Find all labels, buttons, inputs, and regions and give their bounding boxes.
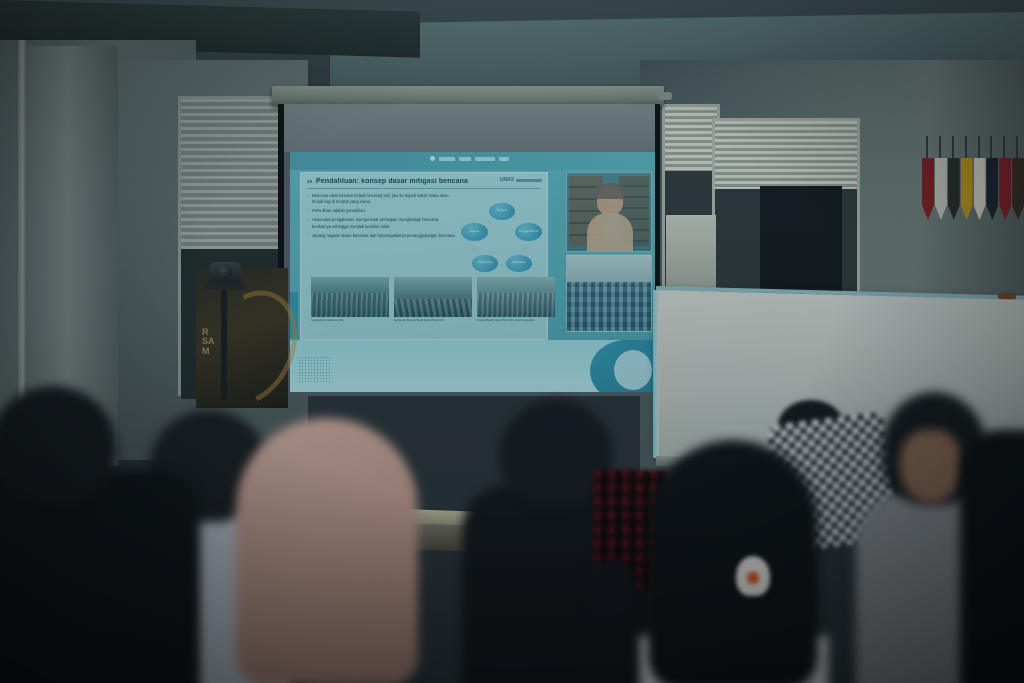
flag: [1012, 158, 1024, 220]
flag-item: [974, 136, 986, 246]
hair-clip: [736, 556, 770, 596]
audience-person-body: [960, 430, 1024, 683]
cycle-node: Rehabilitasi: [506, 255, 532, 272]
flag-item: [948, 136, 960, 246]
presentation-slide: UNAS 10 Pendahluan: konsep dasar mitigas…: [290, 152, 656, 392]
institution-logo: UNAS: [500, 177, 542, 183]
list-item: Jepang negara rawan bencana dan berpenga…: [307, 233, 457, 239]
dot-pattern-decoration: [298, 356, 332, 382]
screen-pull-knob[interactable]: [658, 92, 672, 100]
cycle-node: Bencana: [489, 203, 515, 220]
whiteboard-marker[interactable]: [998, 293, 1016, 299]
photo-caption: Gempa dan Tsunami Besar Jepang Timur 201…: [394, 319, 472, 322]
logo-dot-icon: [430, 156, 435, 161]
window-vent: [665, 107, 717, 171]
slide-header-band: [290, 152, 656, 170]
presenter-video-panel[interactable]: [566, 172, 652, 252]
audience-person-face: [900, 430, 962, 504]
disaster-photo: [394, 277, 472, 317]
audience-person-head: [0, 386, 116, 504]
arrow-up-icon: ↑: [474, 246, 476, 251]
slide-title: Pendahluan: konsep dasar mitigasi bencan…: [316, 178, 468, 185]
flag: [948, 158, 960, 220]
logo-mark-icon: [475, 157, 495, 161]
list-item: Bencana alam berulan terjadi berulang ka…: [307, 193, 457, 205]
disaster-photo-row: Gempa Bumi Yokohama, 1923 Gempa dan Tsun…: [311, 277, 559, 322]
list-item: Pemulihan adalah pemulihan.: [307, 208, 457, 214]
projector-screen: UNAS 10 Pendahluan: konsep dasar mitigas…: [278, 104, 660, 396]
flag: [935, 158, 947, 220]
flag-row: [922, 136, 1024, 246]
cycle-node: Rekonstruksi: [472, 255, 498, 272]
slide-bullet-list: Bencana alam berulan terjadi berulang ka…: [307, 193, 457, 239]
remote-room-wall: [567, 255, 651, 284]
logo-mark-icon: [439, 157, 455, 161]
camera-tripod: [221, 290, 227, 400]
flag-item: [1012, 136, 1024, 246]
disaster-photo: [477, 277, 555, 317]
slide-number: 10: [307, 179, 312, 184]
slide-content-panel: UNAS 10 Pendahluan: konsep dasar mitigas…: [300, 172, 548, 340]
raised-hand: [584, 560, 636, 630]
logo-mark-icon: [499, 157, 509, 161]
sponsor-logo-strip: [430, 156, 509, 161]
window-blind: [181, 99, 285, 249]
screen-top-area: [284, 104, 655, 152]
person-long-hair: [648, 440, 818, 683]
person-hijab: [236, 418, 418, 683]
window-vent: [715, 121, 857, 189]
institution-logo-mark: UNAS: [500, 177, 514, 183]
logo-mark-icon: [459, 157, 471, 161]
rubble-texture: [477, 293, 555, 317]
flag: [986, 158, 998, 220]
lecture-hall-photo: UNAS 10 Pendahluan: konsep dasar mitigas…: [0, 0, 1024, 683]
flag-item: [999, 136, 1011, 246]
presenter-body: [587, 213, 633, 251]
slide-footer: [290, 340, 656, 392]
photo-caption: Tsunami Besar Jepang Timur 2011, Kota Ke…: [477, 319, 555, 322]
institution-logo-text: [516, 179, 542, 182]
arrow-down-icon: ↓: [523, 246, 525, 251]
flag: [961, 158, 973, 220]
disaster-photo: [311, 277, 389, 317]
photo-card: Gempa Bumi Yokohama, 1923: [311, 277, 389, 322]
presenter-hair: [595, 183, 625, 199]
projector-screen-case: [272, 86, 664, 106]
photo-card: Gempa dan Tsunami Besar Jepang Timur 201…: [394, 277, 472, 322]
photo-card: Tsunami Besar Jepang Timur 2011, Kota Ke…: [477, 277, 555, 322]
rubble-texture: [394, 299, 472, 317]
banner-text: RSAM: [202, 328, 215, 356]
whiteboard-edge: [653, 290, 659, 458]
arrow-left-icon: ←: [500, 261, 504, 266]
flag-item: [935, 136, 947, 246]
list-item: Akumulasi pengalaman memperkuat persiapa…: [307, 217, 457, 229]
flag-item: [986, 136, 998, 246]
camera-lens-icon: [217, 264, 232, 279]
audience-person-body: [0, 470, 200, 683]
photo-caption: Gempa Bumi Yokohama, 1923: [311, 319, 389, 322]
flag: [922, 158, 934, 220]
cycle-node: Mitigasi: [461, 223, 488, 241]
remote-audience: [567, 282, 651, 331]
cycle-node: Tanggap Darurat: [515, 223, 542, 241]
flag-item: [961, 136, 973, 246]
flag: [999, 158, 1011, 220]
disaster-cycle-diagram: Bencana Tanggap Darurat Rehabilitasi Rek…: [461, 203, 543, 285]
rubble-texture: [311, 293, 389, 317]
audience-video-panel[interactable]: [566, 254, 652, 332]
flag: [974, 158, 986, 220]
swoosh-inner-decoration: [614, 350, 652, 390]
flag-item: [922, 136, 934, 246]
